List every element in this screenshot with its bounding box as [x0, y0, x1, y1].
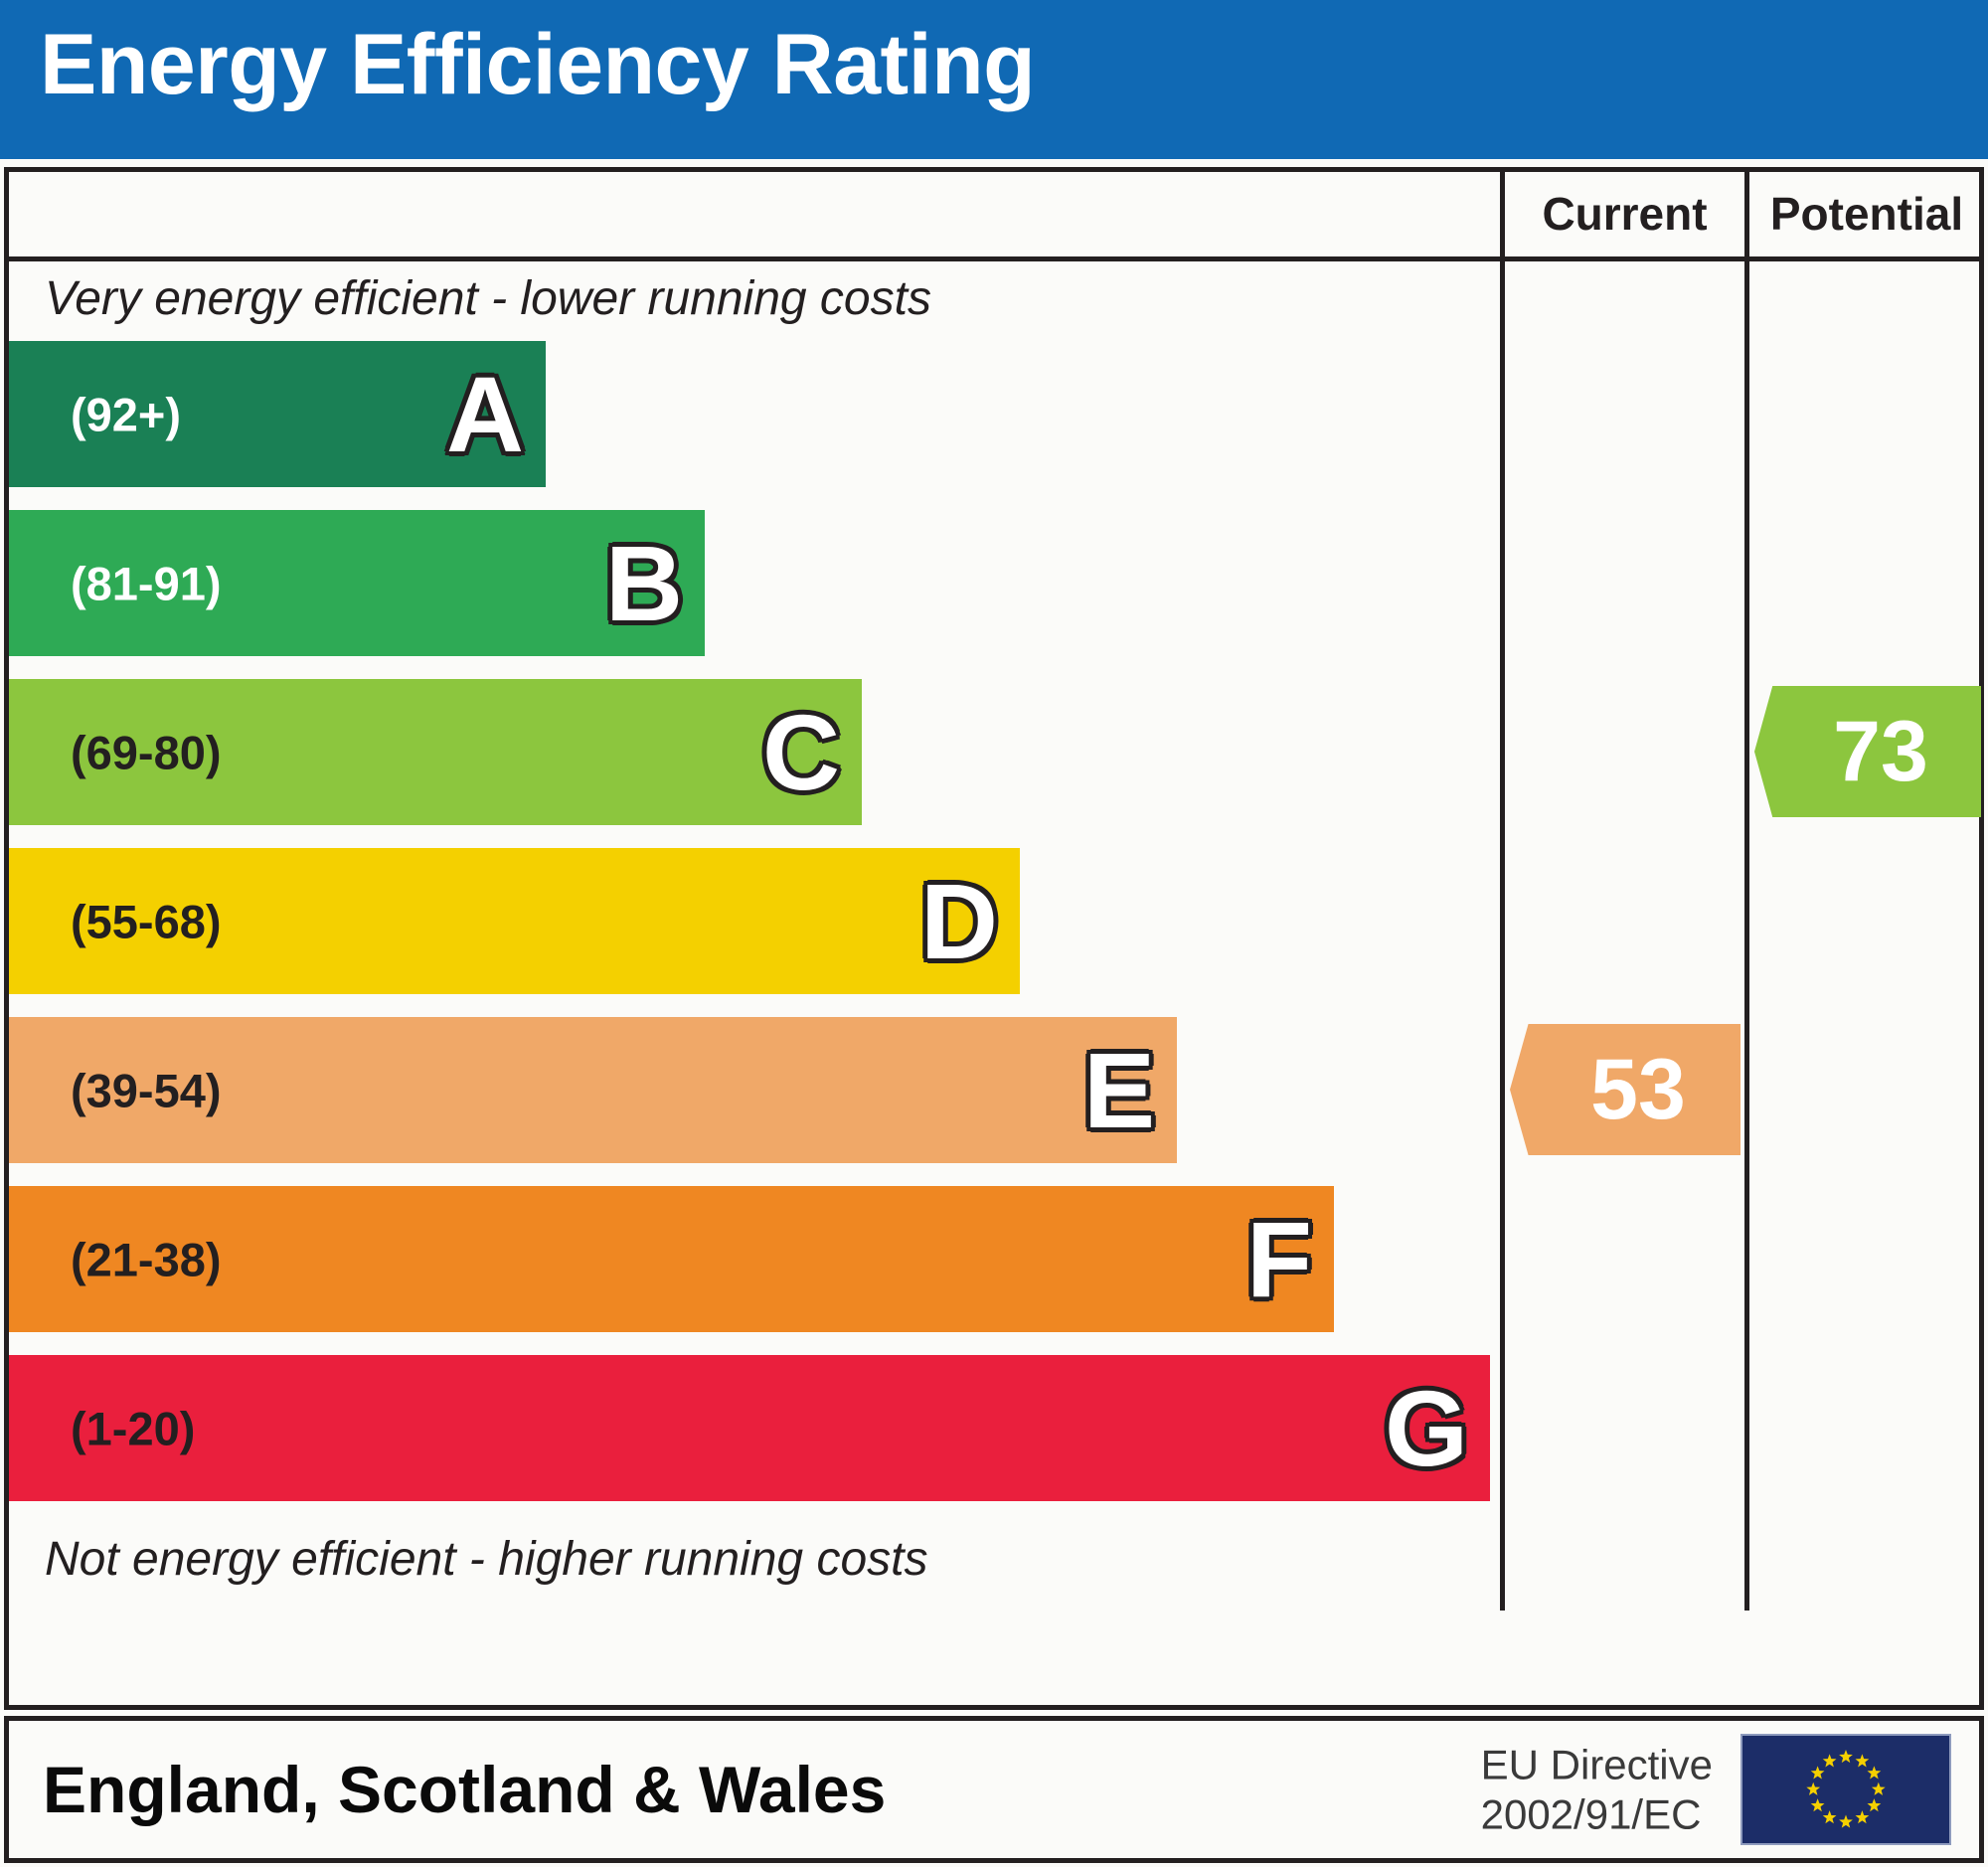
rating-marker-potential: 73 — [1754, 686, 1981, 817]
rating-marker-current: 53 — [1510, 1024, 1740, 1155]
band-range-b: (81-91) — [71, 556, 222, 610]
column-divider-current — [1500, 261, 1505, 1611]
footer-directive-label: EU Directive 2002/91/EC — [1481, 1740, 1713, 1838]
energy-efficiency-certificate: Energy Efficiency Rating Current Potenti… — [0, 0, 1988, 1867]
band-letter-e: E — [1083, 1037, 1155, 1144]
band-letter-b: B — [605, 530, 683, 637]
chart-panel: Current Potential Very energy efficient … — [4, 167, 1984, 1710]
band-range-a: (92+) — [71, 387, 181, 441]
rating-band-e: (39-54)E — [9, 1017, 1177, 1163]
band-letter-g: G — [1385, 1375, 1468, 1482]
caption-not-efficient: Not energy efficient - higher running co… — [45, 1532, 927, 1587]
rating-band-f: (21-38)F — [9, 1186, 1334, 1332]
footer-directive-line2: 2002/91/EC — [1481, 1789, 1713, 1839]
rating-band-b: (81-91)B — [9, 510, 705, 656]
band-letter-f: F — [1246, 1206, 1312, 1313]
eu-stars-icon — [1742, 1736, 1949, 1843]
column-header-row: Current Potential — [9, 172, 1979, 261]
band-letter-c: C — [762, 699, 840, 806]
footer-bar: England, Scotland & Wales EU Directive 2… — [4, 1716, 1984, 1863]
rating-bands: (92+)A(81-91)B(69-80)C(55-68)D(39-54)E(2… — [9, 341, 1495, 1524]
rating-band-a: (92+)A — [9, 341, 546, 487]
column-header-current: Current — [1500, 172, 1744, 256]
footer-directive-line1: EU Directive — [1481, 1740, 1713, 1789]
rating-band-d: (55-68)D — [9, 848, 1020, 994]
band-range-g: (1-20) — [71, 1401, 195, 1455]
band-range-f: (21-38) — [71, 1232, 222, 1286]
column-header-potential: Potential — [1744, 172, 1984, 256]
rating-band-c: (69-80)C — [9, 679, 862, 825]
rating-band-g: (1-20)G — [9, 1355, 1490, 1501]
band-range-d: (55-68) — [71, 894, 222, 948]
eu-flag-icon — [1740, 1734, 1951, 1845]
title-bar: Energy Efficiency Rating — [0, 0, 1988, 159]
page-title: Energy Efficiency Rating — [40, 16, 1035, 114]
footer-region-label: England, Scotland & Wales — [43, 1752, 886, 1827]
band-letter-a: A — [446, 361, 524, 468]
band-range-e: (39-54) — [71, 1063, 222, 1117]
band-range-c: (69-80) — [71, 725, 222, 779]
caption-very-efficient: Very energy efficient - lower running co… — [45, 271, 931, 326]
band-letter-d: D — [920, 868, 998, 975]
column-divider-potential — [1744, 261, 1749, 1611]
